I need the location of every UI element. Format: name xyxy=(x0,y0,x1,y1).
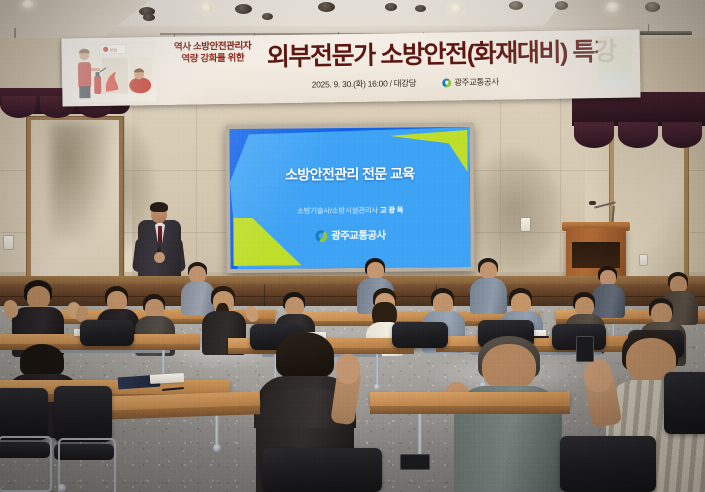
presenter-hand xyxy=(154,252,165,263)
gwangju-transit-logo-icon xyxy=(442,78,451,87)
banner-subtitle-line2: 역량 강화를 위한 xyxy=(158,53,268,66)
chair[interactable] xyxy=(560,436,656,492)
hair xyxy=(276,332,334,378)
valance-scallop xyxy=(618,122,658,148)
chair[interactable] xyxy=(80,320,134,346)
gooseneck-microphone-head xyxy=(589,201,596,205)
chair[interactable] xyxy=(664,372,705,434)
fire-extinguisher-training-illustration: 안전 xyxy=(72,41,157,102)
slide-title: 소방안전관리 전문 교육 xyxy=(230,163,470,185)
banner-title: 외부전문가 소방안전(화재대비) 특강 xyxy=(267,32,616,73)
valance-scallop xyxy=(2,96,36,118)
slide-presenter: 소방기술사/소방시설관리사 고 광 욱 xyxy=(230,204,470,217)
track-stem xyxy=(648,24,649,32)
wall-outlet[interactable] xyxy=(4,236,13,249)
ceiling-speaker xyxy=(415,5,426,12)
torso xyxy=(181,281,215,315)
table-caster xyxy=(213,444,221,452)
downlight xyxy=(22,0,34,8)
ceiling-vent xyxy=(555,1,568,10)
banner-subtitle: 역사 소방안전관리자 역량 강화를 위한 xyxy=(158,41,268,66)
torso xyxy=(592,284,625,318)
handout-paper xyxy=(150,373,184,384)
torso xyxy=(470,278,507,314)
gwangju-transit-logo-icon xyxy=(315,230,327,242)
ceiling-speaker xyxy=(235,4,252,14)
head xyxy=(480,262,497,279)
clapping-hand xyxy=(336,354,360,384)
downlight xyxy=(449,3,463,14)
chair[interactable] xyxy=(262,448,382,492)
slide-organization: 광주교통공사 xyxy=(230,227,470,244)
banner-organization: 광주교통공사 xyxy=(442,76,499,89)
table-row-front xyxy=(370,392,570,406)
chair-frame xyxy=(0,436,52,492)
chair-caster xyxy=(58,484,66,492)
ceiling-speaker xyxy=(143,14,155,21)
head xyxy=(107,291,127,311)
slide-presenter-name: 고 광 욱 xyxy=(380,206,403,215)
clapping-hand xyxy=(584,360,612,392)
door-cast-shadow xyxy=(50,122,110,242)
smartphone[interactable] xyxy=(576,336,594,362)
table-caster xyxy=(374,384,380,390)
chair[interactable] xyxy=(54,386,112,442)
downlight xyxy=(200,3,213,13)
banner-subtitle-line1: 역사 소방안전관리자 xyxy=(158,41,268,54)
banner-side-tag xyxy=(598,36,633,89)
chair-frame xyxy=(58,438,116,492)
wall-shadow xyxy=(470,150,560,270)
banner-footer: 2025. 9. 30.(화) 16:00 / 대강당 광주교통공사 xyxy=(240,75,570,92)
hair xyxy=(20,344,64,376)
head xyxy=(511,293,531,313)
wall-outlet[interactable] xyxy=(521,218,530,231)
chair[interactable] xyxy=(0,388,48,440)
downlight xyxy=(606,2,619,12)
chair[interactable] xyxy=(392,322,448,348)
valance-scallop xyxy=(574,122,614,148)
valance-scallop xyxy=(662,122,702,148)
head xyxy=(367,262,384,279)
presentation-slide: 소방안전관리 전문 교육 소방기술사/소방시설관리사 고 광 욱 광주교통공사 xyxy=(229,127,470,269)
ceiling-vent xyxy=(509,1,523,10)
head xyxy=(433,293,453,313)
wall-outlet[interactable] xyxy=(640,255,647,265)
wall-panel-seam xyxy=(196,102,197,286)
ceiling-vent xyxy=(645,2,660,12)
head xyxy=(27,286,50,309)
head xyxy=(651,303,672,324)
lectern-shelf xyxy=(572,242,620,268)
projection-screen: 소방안전관리 전문 교육 소방기술사/소방시설관리사 고 광 욱 광주교통공사 xyxy=(225,123,474,273)
smartphone-on-table[interactable] xyxy=(400,454,430,470)
pen[interactable] xyxy=(533,336,549,338)
table-edge xyxy=(370,406,570,414)
banner-datetime: 2025. 9. 30.(화) 16:00 / 대강당 xyxy=(312,77,417,91)
ceiling-speaker xyxy=(262,13,273,20)
slide-presenter-credentials: 소방기술사/소방시설관리사 xyxy=(297,206,378,216)
ceiling-speaker xyxy=(385,3,397,11)
ceiling-speaker xyxy=(318,2,335,12)
stage-seam xyxy=(264,284,265,308)
slide-organization-label: 광주교통공사 xyxy=(331,228,386,243)
table-leg xyxy=(376,354,379,386)
event-banner: 안전 역사 소방안전관리자 역량 강화를 위한 외부전문가 소방안전(화재대비)… xyxy=(62,29,641,106)
banner-organization-label: 광주교통공사 xyxy=(454,76,499,89)
presenter-hair xyxy=(150,202,168,212)
svg-text:안전: 안전 xyxy=(110,47,118,53)
lecture-hall-photo: 안전 역사 소방안전관리자 역량 강화를 위한 외부전문가 소방안전(화재대비)… xyxy=(0,0,705,492)
head xyxy=(482,344,536,390)
